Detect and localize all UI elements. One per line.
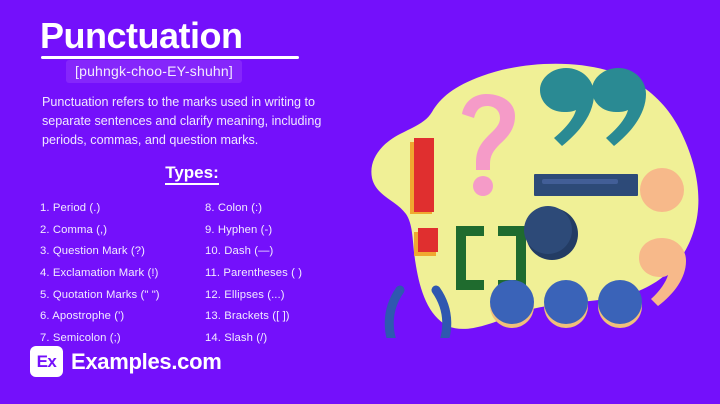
types-heading-label: Types: xyxy=(165,163,219,185)
list-item: 6. Apostrophe (') xyxy=(40,306,210,328)
list-item: 14. Slash (/) xyxy=(205,328,355,350)
list-item: 13. Brackets ([ ]) xyxy=(205,306,355,328)
list-item: 2. Comma (,) xyxy=(40,220,210,242)
list-item: 9. Hyphen (-) xyxy=(205,220,355,242)
brand-logo[interactable]: Ex Examples.com xyxy=(30,346,221,377)
punctuation-illustration xyxy=(370,58,715,338)
pronunciation-badge: [puhngk-choo-EY-shuhn] xyxy=(66,60,242,83)
list-item: 5. Quotation Marks (" ") xyxy=(40,285,210,307)
logo-wordmark: Examples.com xyxy=(71,349,221,375)
types-list-right: 8. Colon (:) 9. Hyphen (-) 10. Dash (—) … xyxy=(205,198,355,350)
infographic-canvas: Punctuation [puhngk-choo-EY-shuhn] Punct… xyxy=(0,0,720,404)
list-item: 12. Ellipses (...) xyxy=(205,285,355,307)
list-item: 8. Colon (:) xyxy=(205,198,355,220)
list-item: 11. Parentheses ( ) xyxy=(205,263,355,285)
definition-text: Punctuation refers to the marks used in … xyxy=(42,93,342,150)
types-heading: Types: xyxy=(42,163,342,183)
ellipses-icon xyxy=(490,280,642,328)
list-item: 4. Exclamation Mark (!) xyxy=(40,263,210,285)
list-item: 10. Dash (—) xyxy=(205,241,355,263)
page-title: Punctuation xyxy=(40,18,242,54)
types-list-left: 1. Period (.) 2. Comma (,) 3. Question M… xyxy=(40,198,210,350)
dash-icon xyxy=(534,174,638,196)
list-item: 3. Question Mark (?) xyxy=(40,241,210,263)
list-item: 1. Period (.) xyxy=(40,198,210,220)
exclamation-mark-icon xyxy=(410,138,438,256)
title-underline xyxy=(41,56,299,59)
logo-mark-icon: Ex xyxy=(30,346,63,377)
